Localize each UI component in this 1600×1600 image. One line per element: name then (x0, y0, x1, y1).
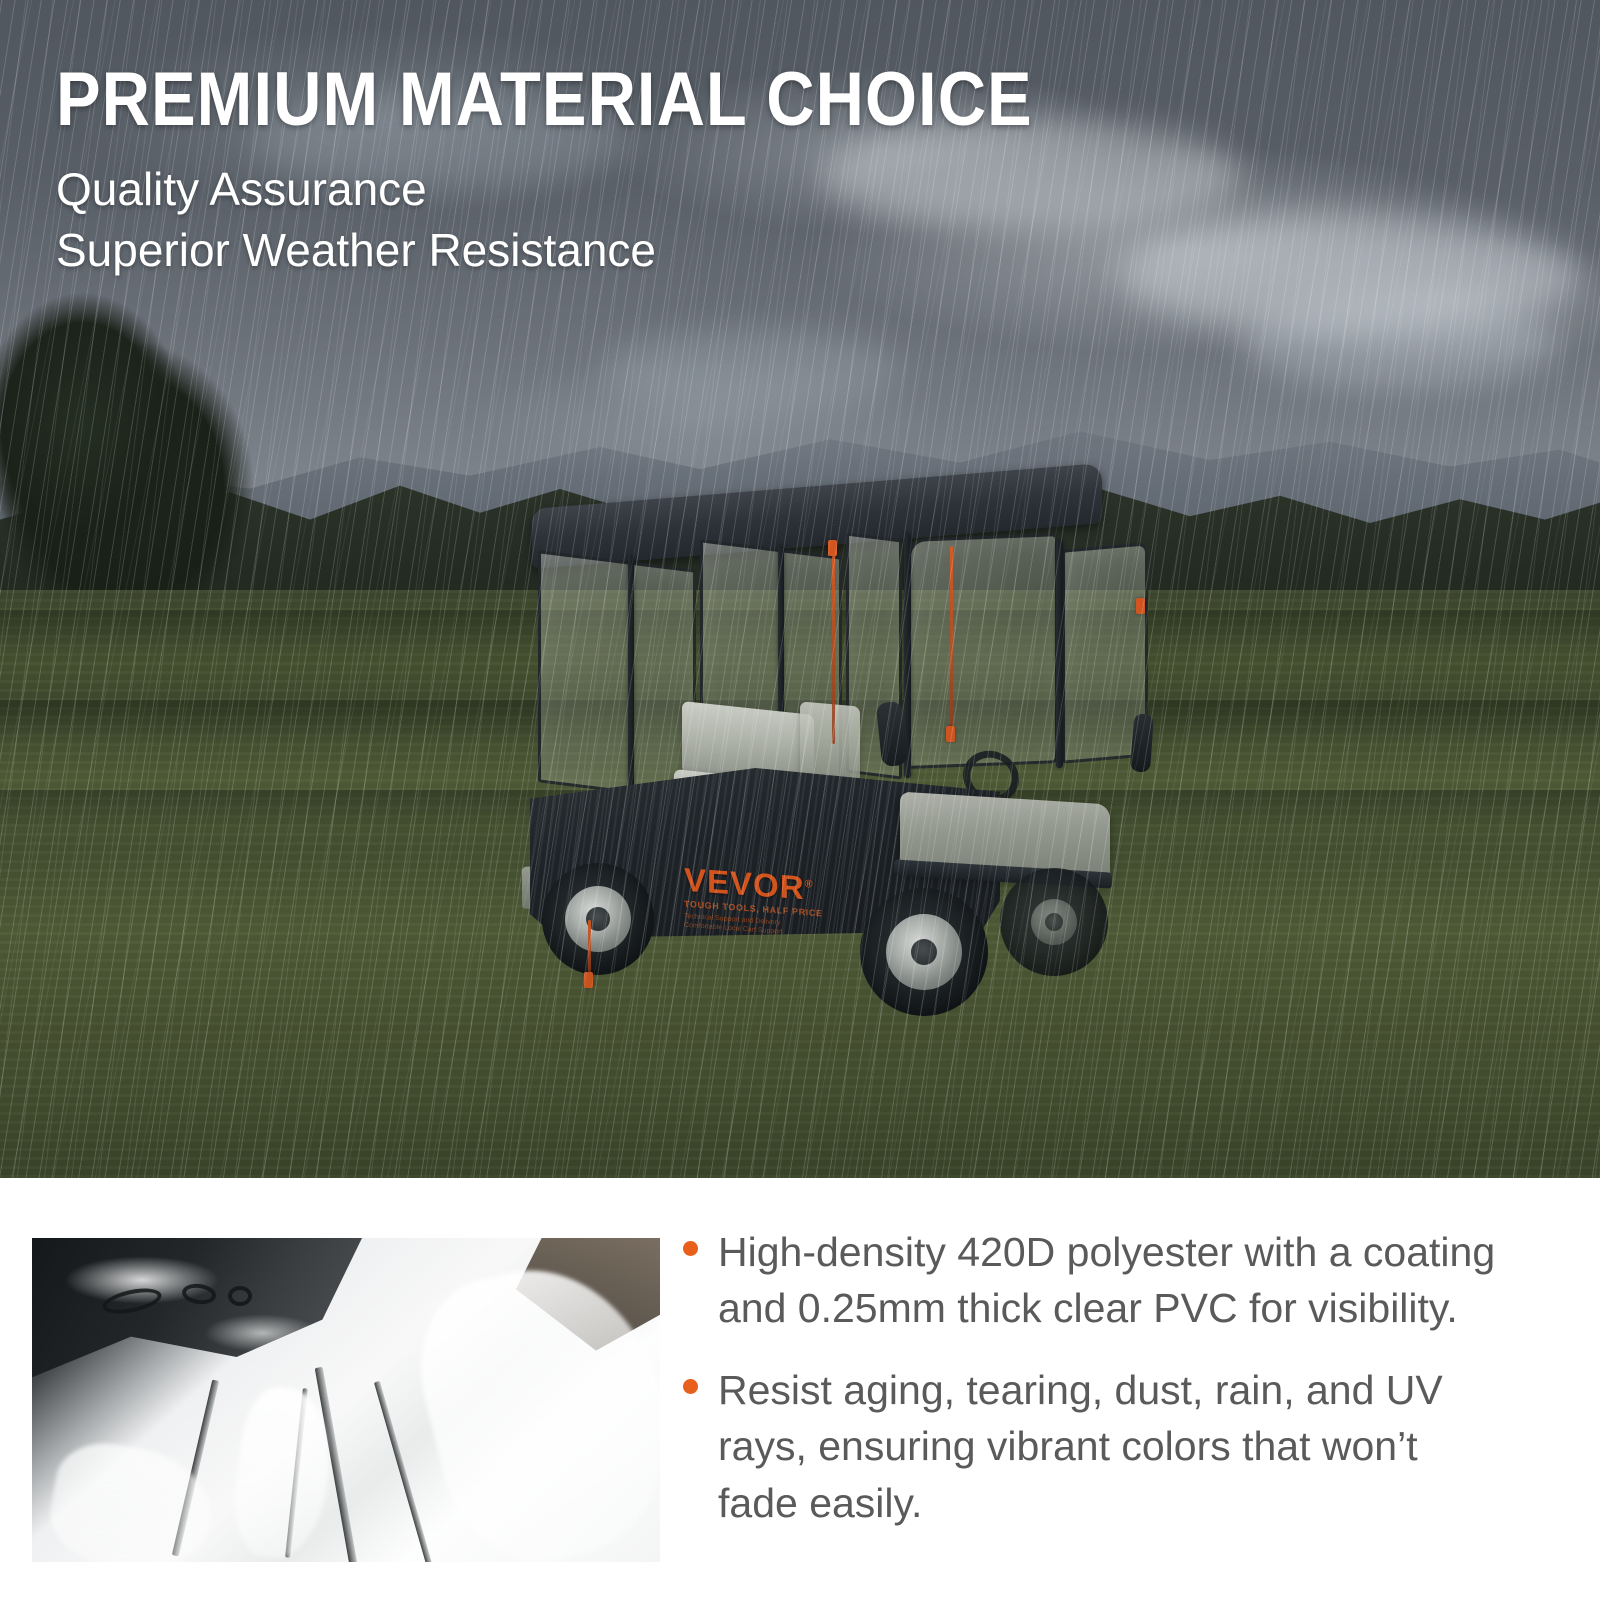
rear-wheel (542, 863, 654, 975)
hero-text-block: PREMIUM MATERIAL CHOICE Quality Assuranc… (56, 62, 1256, 280)
golf-cart-with-enclosure: VEVOR® TOUGH TOOLS, HALF PRICE Technical… (470, 468, 1170, 1048)
zipper-pull (1136, 598, 1145, 614)
dark-reflection-area (32, 1238, 362, 1408)
front-wheel (860, 888, 988, 1016)
bullet-dot-icon (683, 1241, 698, 1256)
pvc-material-photo (32, 1238, 660, 1562)
skirt-zipper (588, 920, 591, 976)
feature-bullet-list: High-density 420D polyester with a coati… (683, 1224, 1503, 1557)
zipper (832, 544, 835, 744)
feature-detail-section: High-density 420D polyester with a coati… (0, 1178, 1600, 1600)
pvc-material-texture (32, 1238, 660, 1562)
subtitle-line-2: Superior Weather Resistance (56, 221, 1256, 280)
hero-image: VEVOR® TOUGH TOOLS, HALF PRICE Technical… (0, 0, 1600, 1178)
front-wheel-hub (911, 939, 937, 965)
cloud (1240, 300, 1560, 388)
far-wheel (1000, 868, 1108, 976)
right-side-mirror (1130, 713, 1154, 772)
pvc-fold (374, 1381, 432, 1562)
page-title: PREMIUM MATERIAL CHOICE (56, 62, 1112, 138)
far-wheel-hub (1045, 913, 1063, 931)
pvc-crease (228, 1286, 252, 1306)
subtitle-line-1: Quality Assurance (56, 160, 1256, 219)
frame-post (1056, 540, 1063, 768)
skirt-zipper-pull (584, 972, 593, 988)
product-feature-page: VEVOR® TOUGH TOOLS, HALF PRICE Technical… (0, 0, 1600, 1600)
bullet-dot-icon (683, 1379, 698, 1394)
front-seat-back (800, 701, 860, 784)
list-item: Resist aging, tearing, dust, rain, and U… (683, 1362, 1503, 1530)
clear-pvc-door-panel (908, 533, 1058, 769)
bullet-text: Resist aging, tearing, dust, rain, and U… (718, 1362, 1503, 1530)
cloud (600, 330, 900, 410)
zipper-pull (828, 540, 837, 556)
vevor-logo: VEVOR® TOUGH TOOLS, HALF PRICE Technical… (684, 863, 834, 941)
list-item: High-density 420D polyester with a coati… (683, 1224, 1503, 1336)
frame-post (628, 556, 634, 797)
zipper-pull (946, 726, 955, 742)
bullet-text: High-density 420D polyester with a coati… (718, 1224, 1503, 1336)
clear-pvc-panel-rear (538, 550, 696, 801)
zipper (950, 546, 953, 742)
